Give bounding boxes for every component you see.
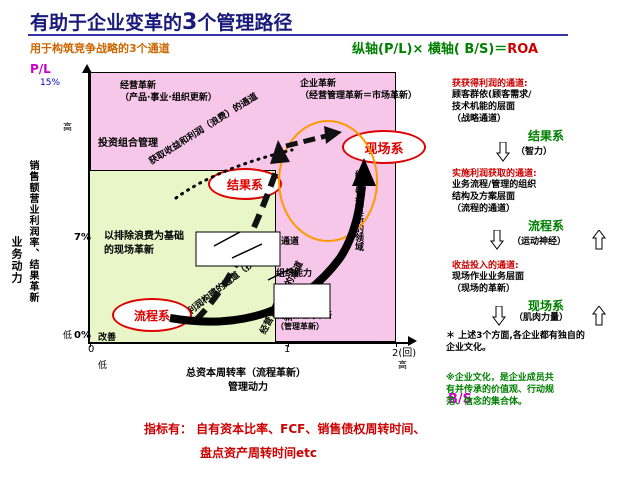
x-axis-high-label: 高	[398, 358, 407, 371]
label-process-management-reform: 流程管理的革新 （管理革新）	[276, 310, 332, 332]
right-block-1-paren: （智力）	[516, 144, 552, 157]
label-kigyo-kakushin: 企业革新 （经营管理革新＝市场革新）	[300, 78, 417, 102]
up-arrow-icon-2	[592, 230, 606, 248]
right-block-2-body: 业务流程/管理的组织 结构及方案层面 （流程的通道）	[452, 179, 564, 215]
y-tick-label-7: 7%	[74, 232, 91, 243]
y-tick-label-0: 0%	[74, 330, 91, 341]
right-block-3-heading: 收益投入的通道:	[452, 258, 564, 271]
down-arrow-icon-3	[492, 306, 506, 324]
right-block-1-body: 顾客群依(顾客需求/ 技术机能的层面 （战略通道）	[452, 89, 564, 125]
subtitle-right: 纵轴(P/L)× 横轴( B/S)＝ROA	[352, 38, 538, 57]
y-axis-arrow	[82, 64, 92, 73]
right-block-2-heading: 实施利润获取的通道:	[452, 166, 564, 179]
y-axis-caption: 销售额营业利润率、结果革新	[26, 160, 38, 303]
page-title: 有助于企业变革的3个管理路径	[30, 8, 292, 35]
title-number: 3	[182, 10, 197, 35]
title-part1: 有助于企业变革的	[30, 12, 182, 34]
footer-line-2: 盘点资产周转时间etc	[200, 444, 317, 461]
right-block-2-paren: （运动神经）	[512, 234, 566, 247]
y-axis-low-label: 低	[63, 328, 72, 341]
label-keiei-kakushin: 经营革新 （产品·事业·组织更新）	[120, 80, 217, 104]
roa-label: ROA	[507, 42, 538, 57]
up-arrow-icon-3	[592, 306, 606, 324]
right-block-1-tag: 结果系	[528, 127, 564, 144]
y-tick-label-15: 15%	[40, 78, 60, 88]
x-tick-label-0: 0	[88, 344, 94, 355]
right-block-2-tag: 流程系	[528, 217, 564, 234]
title-divider	[28, 34, 568, 36]
footer-line-1: 指标有： 自有资本比率、FCF、销售债权周转时间、	[144, 420, 425, 437]
y-axis-caption-secondary: 业务动力	[8, 236, 24, 284]
callout-kekka-kei: 结果系	[208, 168, 282, 200]
y-axis-line	[88, 72, 90, 344]
right-block-3-body: 现场作业业务层面 （现场的革新）	[452, 271, 564, 295]
label-kaizen: 改善	[98, 330, 116, 343]
down-arrow-icon-1	[496, 142, 510, 160]
right-block-3: 收益投入的通道: 现场作业业务层面 （现场的革新） 现场系	[452, 258, 564, 314]
orange-highlight-ellipse	[278, 120, 378, 242]
callout-katei-kei: 流程系	[112, 298, 192, 332]
right-note-2: ※企业文化，是企业成员共 有并传承的价值观、行动规 范、信念的集合体。	[446, 372, 554, 408]
x-axis-low-label: 低	[98, 358, 107, 371]
x-axis-caption: 总资本周转率（流程革新）	[186, 364, 306, 379]
right-block-1: 获获得利润的通道: 顾客群依(顾客需求/ 技术机能的层面 （战略通道） 结果系	[452, 76, 564, 144]
right-block-1-heading: 获获得利润的通道:	[452, 76, 564, 89]
right-note-1: ＊ 上述3个方面,各企业都有独自的 企业文化。	[446, 330, 585, 354]
title-part2: 个管理路径	[197, 12, 292, 34]
label-investment-portfolio: 投资组合管理	[98, 134, 158, 149]
formula-text: 纵轴(P/L)× 横轴( B/S)＝	[352, 42, 507, 57]
x-tick-label-1: 1	[284, 344, 290, 355]
right-block-2: 实施利润获取的通道: 业务流程/管理的组织 结构及方案层面 （流程的通道） 流程…	[452, 166, 564, 234]
y-axis-high-label: 高	[63, 120, 72, 133]
x-tick-label-2: 2(回)	[392, 344, 416, 359]
label-waste-elimination: 以排除浪费为基础的现场革新	[104, 230, 190, 258]
x-axis-caption-secondary: 管理动力	[228, 378, 268, 393]
subtitle-left: 用于构筑竞争战略的3个通道	[30, 40, 170, 56]
axis-label-y: P/L	[30, 62, 51, 76]
x-axis-line	[90, 342, 410, 344]
down-arrow-icon-2	[490, 230, 504, 248]
right-block-3-paren: （肌肉力量）	[514, 310, 568, 323]
